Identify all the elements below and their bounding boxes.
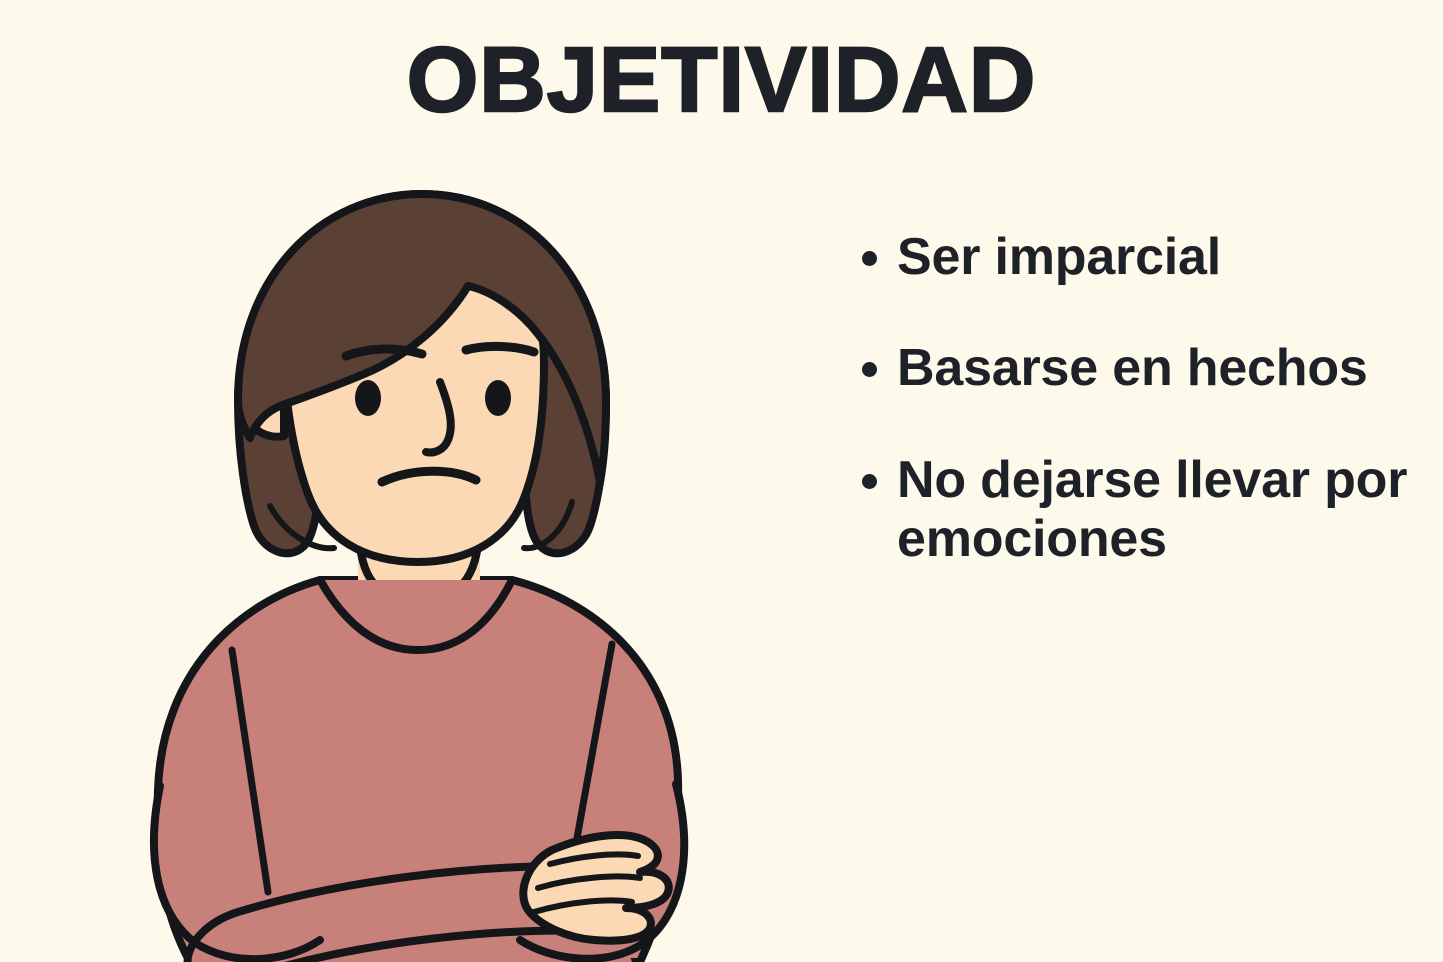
woman-illustration bbox=[120, 150, 740, 962]
objectivity-infographic: OBJETIVIDAD bbox=[0, 0, 1443, 962]
eye-left bbox=[355, 380, 381, 416]
bullet-text: Ser imparcial bbox=[897, 228, 1221, 287]
list-item: Ser imparcial bbox=[862, 228, 1422, 287]
page-title: OBJETIVIDAD bbox=[0, 34, 1443, 126]
bullet-dot-icon bbox=[862, 474, 877, 489]
bullet-dot-icon bbox=[862, 251, 877, 266]
eye-right bbox=[485, 380, 511, 416]
list-item: No dejarse llevar por emociones bbox=[862, 451, 1422, 570]
bullet-text: Basarse en hechos bbox=[897, 339, 1368, 398]
bullet-text: No dejarse llevar por emociones bbox=[897, 451, 1422, 570]
bullet-dot-icon bbox=[862, 362, 877, 377]
bullet-list: Ser imparcial Basarse en hechos No dejar… bbox=[862, 228, 1422, 569]
list-item: Basarse en hechos bbox=[862, 339, 1422, 398]
woman-with-crossed-arms-icon bbox=[120, 150, 740, 962]
